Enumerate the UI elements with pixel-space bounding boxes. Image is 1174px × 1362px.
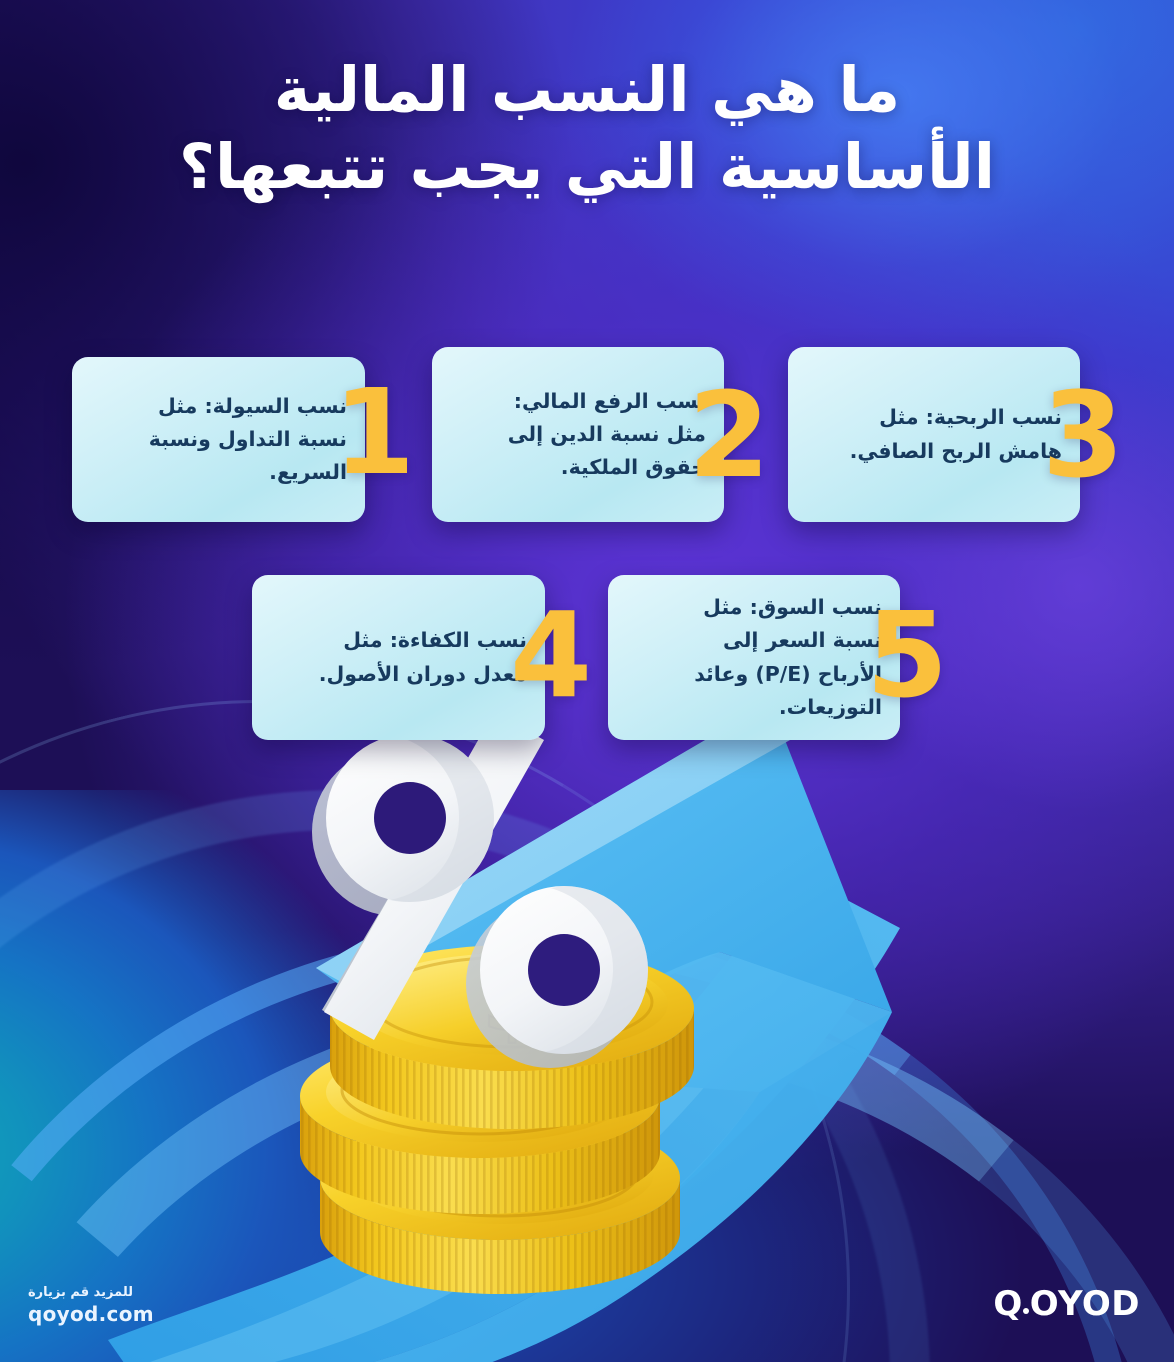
ratio-card-3: نسب الربحية: مثل هامش الربح الصافي. xyxy=(788,347,1080,522)
page-title-line-1: ما هي النسب المالية xyxy=(70,52,1104,129)
growth-illustration: $ xyxy=(0,700,1174,1362)
ratio-card-5-text: نسب السوق: مثل نسبة السعر إلى الأرباح (P… xyxy=(666,575,882,740)
footer-visit-note: للمزيد قم بزيارة qoyod.com xyxy=(28,1285,154,1326)
ratio-card-5: نسب السوق: مثل نسبة السعر إلى الأرباح (P… xyxy=(608,575,900,740)
qoyod-logo-q: Q xyxy=(993,1284,1022,1324)
ratio-card-4: نسب الكفاءة: مثل معدل دوران الأصول. xyxy=(252,575,545,740)
page-title: ما هي النسب المالية الأساسية التي يجب تت… xyxy=(0,52,1174,206)
ratio-card-2-number: 2 xyxy=(688,376,768,494)
ratio-card-3-number: 3 xyxy=(1042,376,1122,494)
ratio-card-5-number: 5 xyxy=(866,596,946,714)
footer-website-url[interactable]: qoyod.com xyxy=(28,1302,154,1326)
ratio-card-1-number: 1 xyxy=(333,373,413,491)
infographic-poster: ما هي النسب المالية الأساسية التي يجب تت… xyxy=(0,0,1174,1362)
footer-visit-label: للمزيد قم بزيارة xyxy=(28,1285,154,1300)
ratio-card-2: نسب الرفع المالي: مثل نسبة الدين إلى حقو… xyxy=(432,347,724,522)
page-title-line-2: الأساسية التي يجب تتبعها؟ xyxy=(70,129,1104,206)
ratio-card-2-text: نسب الرفع المالي: مثل نسبة الدين إلى حقو… xyxy=(490,347,706,522)
ratio-card-1-text: نسب السيولة: مثل نسبة التداول ونسبة السر… xyxy=(130,357,347,522)
ratio-card-4-number: 4 xyxy=(510,596,590,714)
ratio-card-1: نسب السيولة: مثل نسبة التداول ونسبة السر… xyxy=(72,357,365,522)
ratio-card-3-text: نسب الربحية: مثل هامش الربح الصافي. xyxy=(846,347,1062,522)
ratio-card-4-text: نسب الكفاءة: مثل معدل دوران الأصول. xyxy=(310,575,527,740)
qoyod-logo-dot xyxy=(1023,1308,1029,1314)
qoyod-logo-rest: OYOD xyxy=(1030,1284,1140,1324)
qoyod-logo: Q OYOD xyxy=(993,1284,1140,1324)
